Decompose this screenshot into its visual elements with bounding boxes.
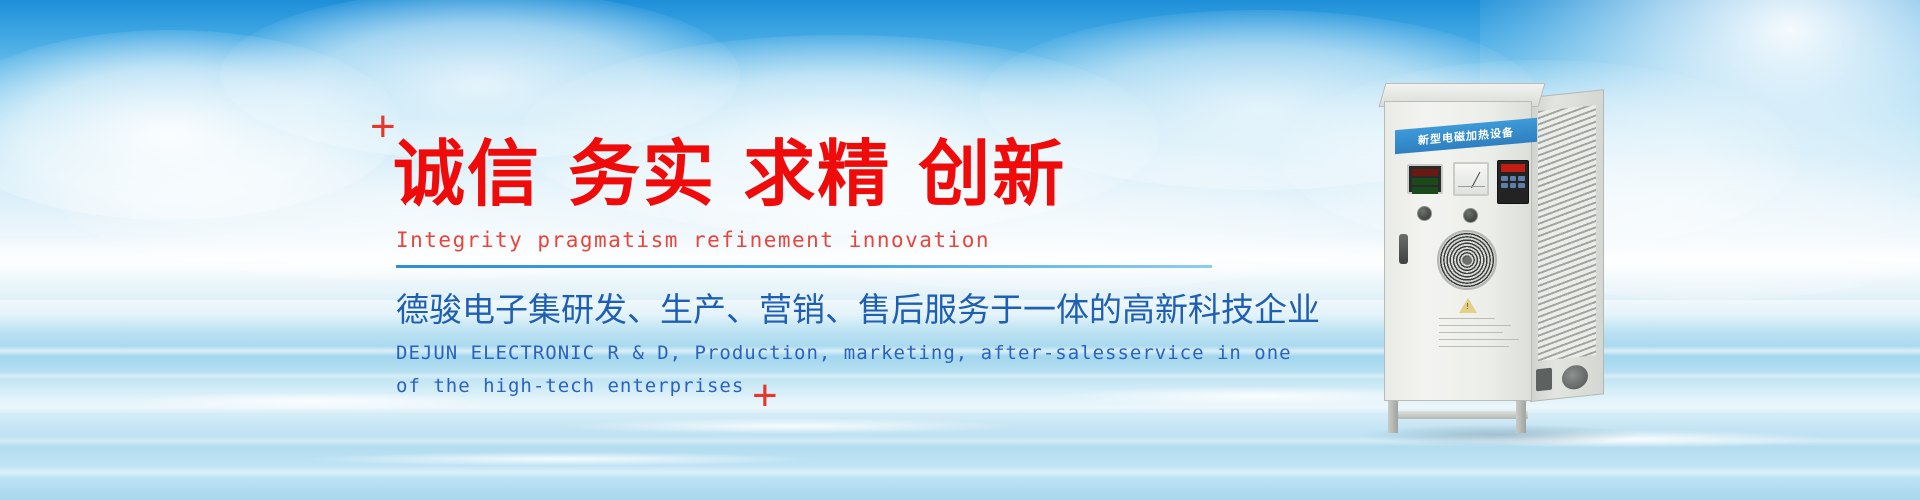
- machine-spec-label: [1439, 318, 1525, 353]
- spec-text-line: [1439, 339, 1519, 340]
- keypad-button: [1510, 176, 1517, 181]
- machine-name-plate-text: 新型电磁加热设备: [1418, 124, 1514, 148]
- machine-digital-display: [1407, 164, 1443, 194]
- machine-leg: [1388, 401, 1398, 433]
- keypad-button: [1510, 183, 1517, 188]
- machine-base-bar: [1388, 411, 1528, 419]
- headline-english: Integrity pragmatism refinement innovati…: [396, 228, 990, 252]
- tagline-english-line-2: of the high-tech enterprises: [396, 370, 1292, 403]
- spec-text-line: [1439, 346, 1509, 347]
- keypad-screen: [1501, 164, 1525, 172]
- warning-triangle-icon: [1459, 298, 1477, 313]
- tagline-english: DEJUN ELECTRONIC R & D, Production, mark…: [396, 337, 1292, 404]
- machine-analog-gauge: [1453, 162, 1489, 196]
- machine-handle-slot: [1399, 234, 1408, 264]
- gauge-scale: [1458, 186, 1485, 187]
- keypad-button: [1501, 183, 1508, 188]
- plus-mark-icon: +: [370, 105, 396, 149]
- divider-rule: [396, 265, 1212, 268]
- keypad-button: [1518, 176, 1525, 181]
- machine-keypad: [1497, 160, 1529, 204]
- product-image-heating-machine: 新型电磁加热设备: [1378, 75, 1608, 435]
- spec-text-line: [1439, 318, 1495, 319]
- machine-front-panel: 新型电磁加热设备: [1384, 101, 1532, 401]
- hero-banner: + + 诚信 务实 求精 创新 Integrity pragmatism ref…: [0, 0, 1920, 500]
- keypad-buttons: [1501, 176, 1525, 188]
- machine-control-knob: [1463, 208, 1478, 223]
- display-segment: [1412, 178, 1438, 185]
- machine-control-knob: [1417, 206, 1432, 221]
- machine-name-plate: 新型电磁加热设备: [1395, 118, 1537, 154]
- spec-text-line: [1439, 332, 1503, 333]
- tagline-chinese: 德骏电子集研发、生产、营销、售后服务于一体的高新科技企业: [396, 289, 1320, 330]
- machine-side-foot: [1536, 368, 1552, 392]
- machine-vent-grille: [1538, 105, 1596, 361]
- headline-chinese: 诚信 务实 求精 创新: [393, 136, 1066, 212]
- machine-cable-port: [1562, 364, 1588, 391]
- keypad-button: [1518, 183, 1525, 188]
- machine-side-panel: [1530, 89, 1604, 402]
- machine-base-legs: [1386, 401, 1536, 435]
- display-segment: [1412, 187, 1438, 194]
- machine-fan-grille: [1437, 230, 1497, 290]
- spec-text-line: [1439, 325, 1511, 326]
- tagline-english-line-1: DEJUN ELECTRONIC R & D, Production, mark…: [396, 337, 1292, 370]
- machine-leg: [1516, 401, 1526, 433]
- keypad-button: [1501, 176, 1508, 181]
- display-segment: [1412, 169, 1438, 176]
